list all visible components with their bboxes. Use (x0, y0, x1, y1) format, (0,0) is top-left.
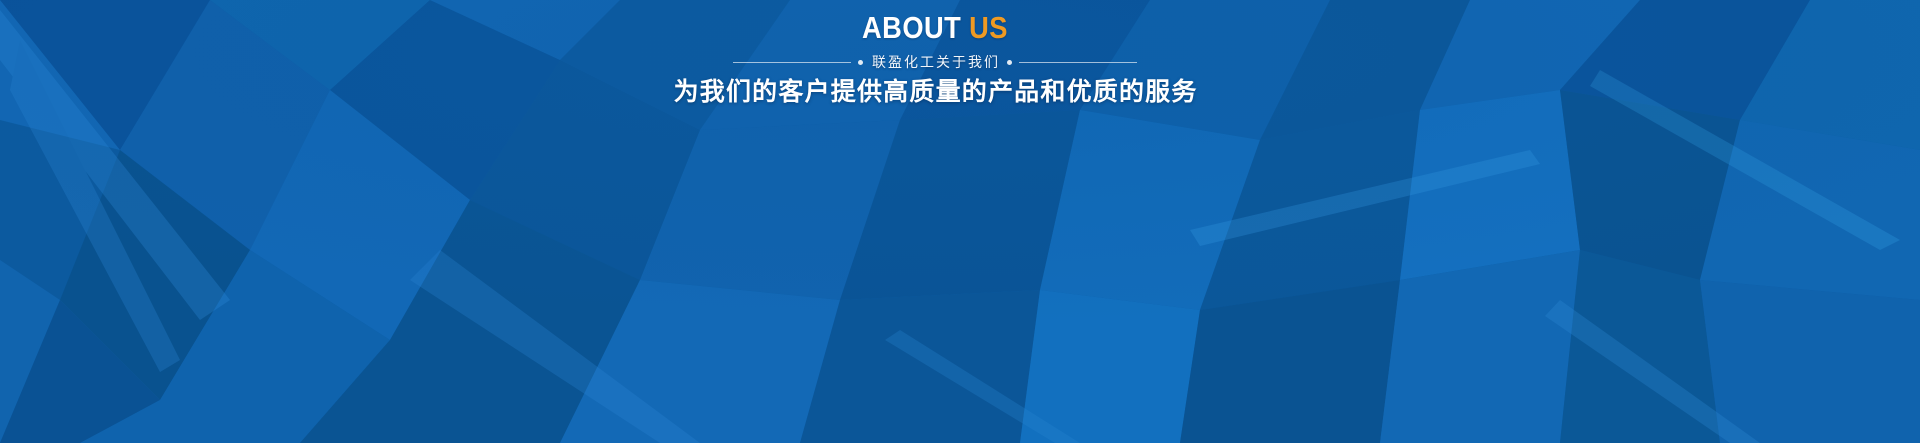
subtitle-rule-row: 联盈化工关于我们 (0, 54, 1870, 70)
right-rule-icon (1019, 62, 1137, 63)
left-rule-dot-icon (858, 60, 863, 65)
hero-content: ABOUTUS 联盈化工关于我们 为我们的客户提供高质量的产品和优质的服务 (0, 0, 1870, 108)
page-headline-cn: 为我们的客户提供高质量的产品和优质的服务 (0, 76, 1870, 108)
page-title-en-accent: US (969, 10, 1008, 45)
right-rule-dot-icon (1007, 60, 1012, 65)
about-us-banner: ABOUTUS 联盈化工关于我们 为我们的客户提供高质量的产品和优质的服务 (0, 0, 1920, 443)
page-title-en: ABOUTUS (112, 11, 1758, 45)
page-subtitle-cn: 联盈化工关于我们 (870, 54, 1000, 70)
left-rule-icon (733, 62, 851, 63)
page-title-en-primary: ABOUT (862, 10, 961, 45)
